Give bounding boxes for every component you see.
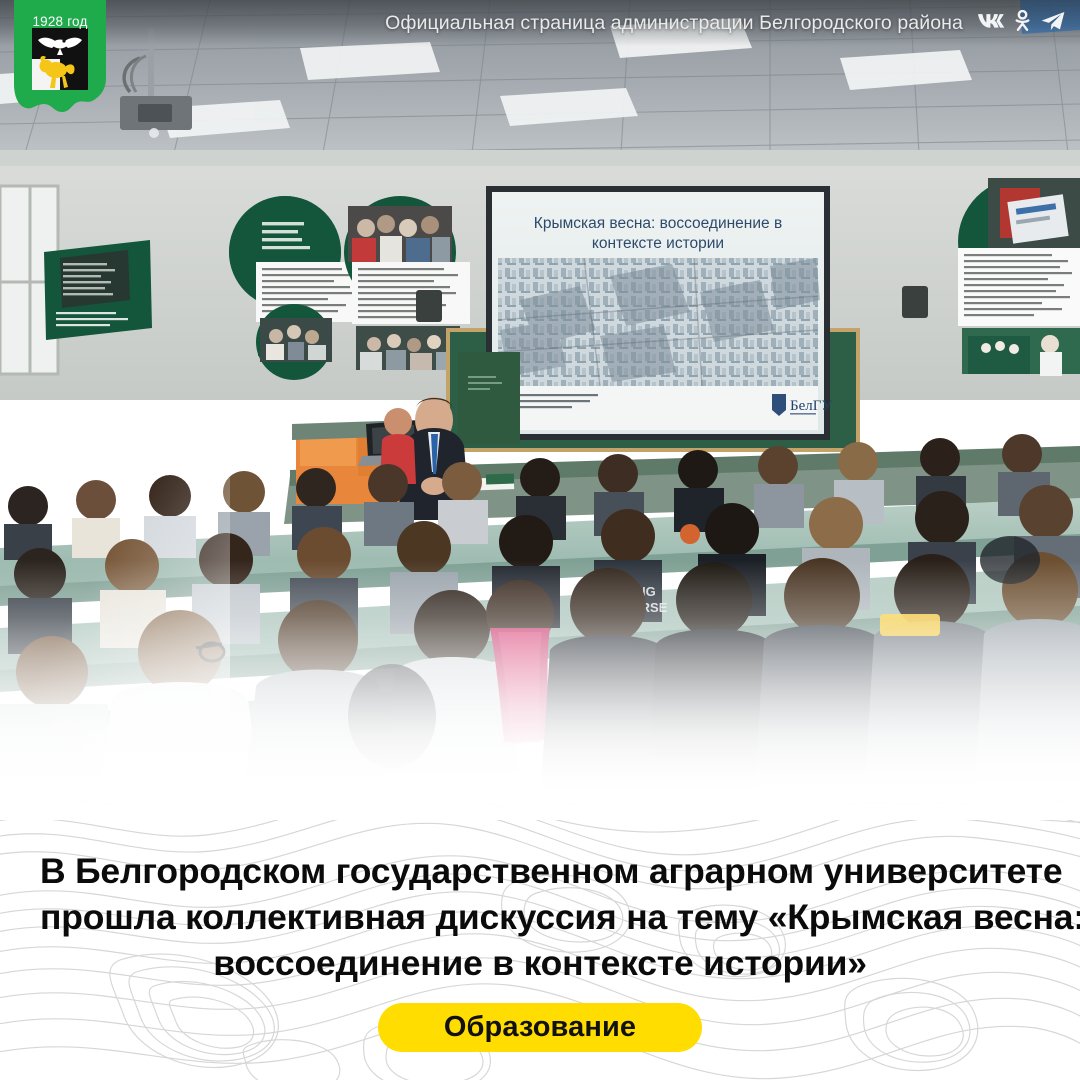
lecture-hall-photo: Крымская весна: воссоединение в контекст… xyxy=(0,0,1080,800)
district-logo-badge[interactable]: 1928 год xyxy=(8,0,112,118)
slide-title-line1: Крымская весна: воссоединение в xyxy=(534,215,782,232)
telegram-icon[interactable] xyxy=(1040,10,1066,37)
slide-title-line2: контексте истории xyxy=(592,235,724,252)
vk-icon[interactable] xyxy=(977,12,1005,35)
ok-icon[interactable] xyxy=(1014,10,1031,37)
caption-line-3: воссоединение в контексте истории» xyxy=(40,940,1040,986)
social-icons xyxy=(977,10,1066,37)
top-bar: Официальная страница администрации Белго… xyxy=(0,0,1080,46)
category-badge-wrapper: Образование xyxy=(0,1003,1080,1052)
slide-university-logo: БелГУ xyxy=(790,398,832,414)
category-badge[interactable]: Образование xyxy=(378,1003,702,1052)
caption-line-1: В Белгородском государственном аграрном … xyxy=(40,848,1040,894)
caption-line-2: прошла коллективная дискуссия на тему «К… xyxy=(40,894,1040,940)
social-post-card: Крымская весна: воссоединение в контекст… xyxy=(0,0,1080,1080)
post-caption: В Белгородском государственном аграрном … xyxy=(40,848,1040,986)
page-title: Официальная страница администрации Белго… xyxy=(385,12,963,35)
